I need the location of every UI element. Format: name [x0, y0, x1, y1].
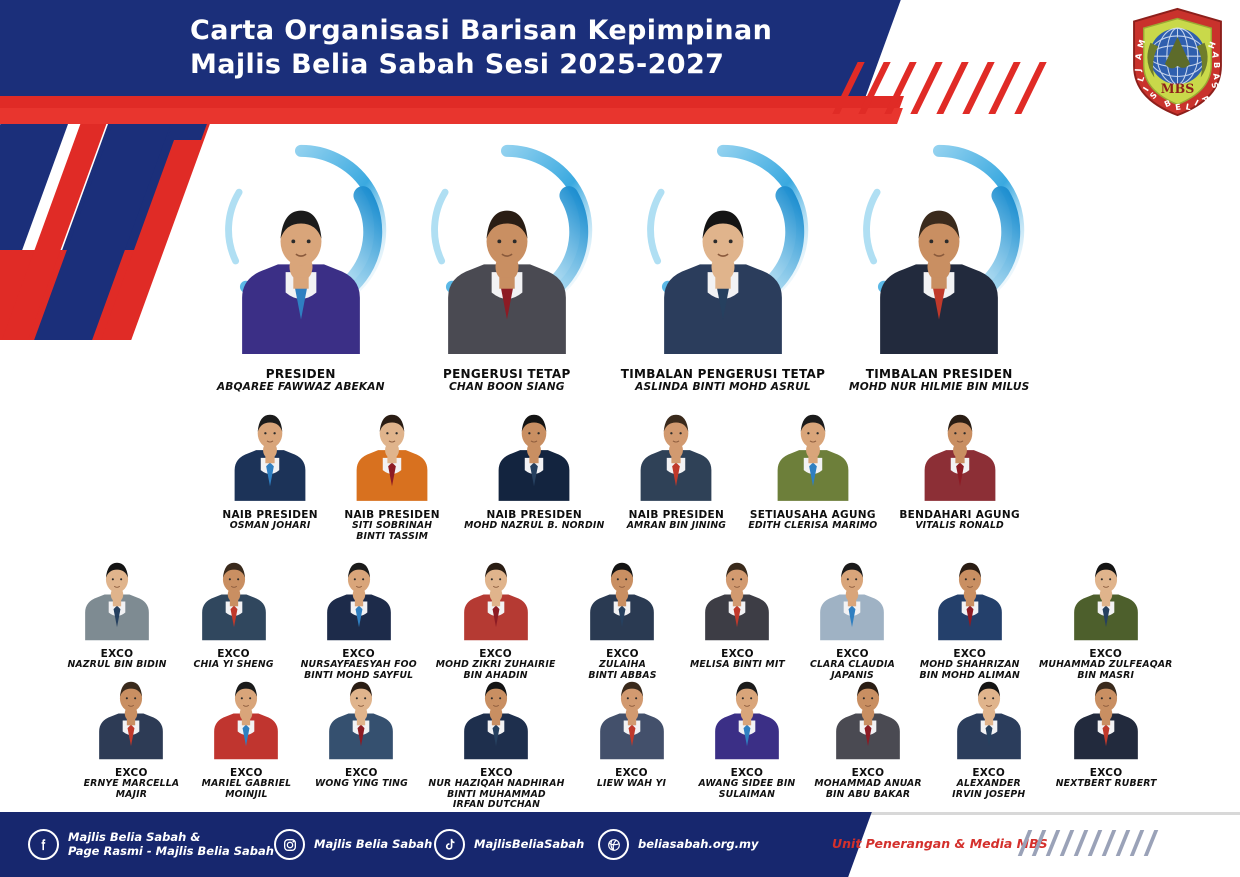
member-photo — [186, 553, 282, 643]
member-portrait-featured — [209, 136, 393, 358]
member-role: PRESIDEN — [266, 367, 336, 381]
member-card: NAIB PRESIDENMOHD NAZRUL B. NORDIN — [464, 404, 604, 542]
svg-text:MBS: MBS — [1161, 81, 1195, 96]
decorative-hatch-top-right — [845, 62, 1055, 114]
member-card: EXCOAWANG SIDEE BIN SULAIMAN — [699, 672, 796, 811]
member-photo — [1058, 672, 1154, 762]
member-card: NAIB PRESIDENSITI SOBRINAH BINTI TASSIM — [342, 404, 442, 542]
member-name: MOHAMMAD ANUAR BIN ABU BAKAR — [814, 779, 921, 800]
member-card: EXCONAZRUL BIN BIDIN — [68, 553, 167, 681]
member-photo — [804, 553, 900, 643]
member-card: PENGERUSI TETAPCHAN BOON SIANG — [415, 136, 599, 393]
member-card: EXCOLIEW WAH YI — [584, 672, 680, 811]
svg-text:L: L — [1185, 101, 1192, 112]
member-photo — [313, 672, 409, 762]
member-photo — [342, 404, 442, 504]
member-photo — [910, 404, 1010, 504]
member-card: EXCOZULAIHA BINTI ABBAS — [574, 553, 670, 681]
web-globe-icon[interactable] — [598, 829, 629, 860]
member-card: EXCOMOHD SHAHRIZAN BIN MOHD ALIMAN — [919, 553, 1020, 681]
footer-social-instagram[interactable]: Majlis Belia Sabah — [274, 829, 432, 860]
member-name: WONG YING TING — [315, 779, 408, 790]
header-red-band-2 — [0, 108, 903, 124]
member-photo — [1058, 553, 1154, 643]
member-card: TIMBALAN PENGERUSI TETAPASLINDA BINTI MO… — [621, 136, 825, 393]
member-card: PRESIDENABQAREE FAWWAZ ABEKAN — [209, 136, 393, 393]
member-name: ABQAREE FAWWAZ ABEKAN — [217, 381, 385, 393]
footer-credit: Unit Penerangan & Media MBS — [832, 836, 1048, 851]
member-name: CHIA YI SHENG — [194, 660, 274, 671]
member-name: MOHD NUR HILMIE BIN MILUS — [849, 381, 1029, 393]
member-card: EXCONEXTBERT RUBERT — [1056, 672, 1157, 811]
member-photo — [626, 404, 726, 504]
member-name: OSMAN JOHARI — [230, 521, 311, 532]
member-photo — [198, 672, 294, 762]
member-name: MOHD NAZRUL B. NORDIN — [464, 521, 604, 532]
footer-social-tiktok[interactable]: MajlisBeliaSabah — [434, 829, 584, 860]
row-leadership: PRESIDENABQAREE FAWWAZ ABEKAN — [0, 136, 1240, 393]
member-photo — [659, 148, 787, 354]
member-name: MELISA BINTI MIT — [690, 660, 785, 671]
svg-text:J: J — [1133, 68, 1143, 72]
row-exco-2: EXCOERNYE MARCELLA MAJIR EXCOMARIEL GABR… — [0, 672, 1240, 811]
member-name: NEXTBERT RUBERT — [1056, 779, 1157, 790]
org-chart-poster: Carta Organisasi Barisan Kepimpinan Majl… — [0, 0, 1240, 877]
decorative-hatch-footer — [1023, 830, 1173, 856]
member-photo — [941, 672, 1037, 762]
footer-social-label: MajlisBeliaSabah — [474, 838, 584, 852]
member-card: EXCOWONG YING TING — [313, 672, 409, 811]
member-card: NAIB PRESIDENOSMAN JOHARI — [220, 404, 320, 542]
footer-social-facebook[interactable]: Majlis Belia Sabah & Page Rasmi - Majlis… — [28, 829, 274, 860]
member-photo — [574, 553, 670, 643]
member-role: TIMBALAN PRESIDEN — [866, 367, 1013, 381]
member-name: ASLINDA BINTI MOHD ASRUL — [635, 381, 811, 393]
member-photo — [448, 672, 544, 762]
member-photo — [699, 672, 795, 762]
member-photo — [484, 404, 584, 504]
facebook-icon[interactable] — [28, 829, 59, 860]
member-photo — [875, 148, 1003, 354]
footer-social-web-globe[interactable]: beliasabah.org.my — [598, 829, 758, 860]
footer-social-label: Majlis Belia Sabah — [314, 838, 432, 852]
member-photo — [922, 553, 1018, 643]
member-card: NAIB PRESIDENAMRAN BIN JINING — [626, 404, 726, 542]
mbs-shield-logo: MBS M A J L I S B E L I A S A B A H — [1129, 6, 1226, 118]
member-card: EXCOCHIA YI SHENG — [186, 553, 282, 681]
poster-footer: Majlis Belia Sabah & Page Rasmi - Majlis… — [0, 812, 1240, 877]
member-card: EXCOMARIEL GABRIEL MOINJIL — [198, 672, 294, 811]
member-photo — [584, 672, 680, 762]
member-card: TIMBALAN PRESIDENMOHD NUR HILMIE BIN MIL… — [847, 136, 1031, 393]
member-card: EXCOMUHAMMAD ZULFEAQAR BIN MASRI — [1039, 553, 1173, 681]
member-card: BENDAHARI AGUNGVITALIS RONALD — [899, 404, 1020, 542]
member-card: SETIAUSAHA AGUNGEDITH CLERISA MARIMO — [748, 404, 877, 542]
member-portrait-featured — [631, 136, 815, 358]
member-photo — [763, 404, 863, 504]
member-portrait-featured — [415, 136, 599, 358]
member-name: SITI SOBRINAH BINTI TASSIM — [352, 521, 432, 542]
member-photo — [311, 553, 407, 643]
member-role: PENGERUSI TETAP — [443, 367, 571, 381]
footer-social-label: beliasabah.org.my — [638, 838, 758, 852]
member-role: TIMBALAN PENGERUSI TETAP — [621, 367, 825, 381]
member-photo — [69, 553, 165, 643]
member-photo — [443, 148, 571, 354]
member-name: LIEW WAH YI — [597, 779, 666, 790]
instagram-icon[interactable] — [274, 829, 305, 860]
title-line-1: Carta Organisasi Barisan Kepimpinan — [190, 14, 772, 48]
page-title: Carta Organisasi Barisan Kepimpinan Majl… — [190, 14, 772, 82]
member-name: NUR HAZIQAH NADHIRAH BINTI MUHAMMAD IRFA… — [428, 779, 564, 811]
member-photo — [237, 148, 365, 354]
member-name: CHAN BOON SIANG — [449, 381, 565, 393]
member-card: EXCONURSAYFAESYAH FOO BINTI MOHD SAYFUL — [301, 553, 417, 681]
svg-text:B: B — [1212, 62, 1222, 68]
title-line-2: Majlis Belia Sabah Sesi 2025-2027 — [190, 48, 772, 82]
member-name: ERNYE MARCELLA MAJIR — [84, 779, 180, 800]
member-card: EXCOMOHAMMAD ANUAR BIN ABU BAKAR — [814, 672, 921, 811]
member-card: EXCOMOHD ZIKRI ZUHAIRIE BIN AHADIN — [436, 553, 556, 681]
member-name: ALEXANDER IRVIN JOSEPH — [952, 779, 1025, 800]
member-name: AWANG SIDEE BIN SULAIMAN — [699, 779, 796, 800]
member-card: EXCOALEXANDER IRVIN JOSEPH — [941, 672, 1037, 811]
member-name: VITALIS RONALD — [915, 521, 1004, 532]
member-name: MARIEL GABRIEL MOINJIL — [202, 779, 291, 800]
member-portrait-featured — [847, 136, 1031, 358]
member-photo — [820, 672, 916, 762]
member-name: EDITH CLERISA MARIMO — [748, 521, 877, 532]
member-photo — [220, 404, 320, 504]
row-vice-presidents: NAIB PRESIDENOSMAN JOHARI NAIB PRESIDENS… — [0, 404, 1240, 542]
footer-social-label: Majlis Belia Sabah & Page Rasmi - Majlis… — [68, 831, 274, 858]
tiktok-icon[interactable] — [434, 829, 465, 860]
row-exco-1: EXCONAZRUL BIN BIDIN EXCOCHIA YI SHENG — [0, 553, 1240, 681]
member-photo — [689, 553, 785, 643]
member-photo — [448, 553, 544, 643]
member-card: EXCOERNYE MARCELLA MAJIR — [83, 672, 179, 811]
member-name: NAZRUL BIN BIDIN — [68, 660, 167, 671]
member-card: EXCOMELISA BINTI MIT — [689, 553, 785, 681]
member-card: EXCONUR HAZIQAH NADHIRAH BINTI MUHAMMAD … — [428, 672, 564, 811]
member-photo — [83, 672, 179, 762]
member-name: AMRAN BIN JINING — [627, 521, 726, 532]
member-card: EXCOCLARA CLAUDIA JAPANIS — [804, 553, 900, 681]
